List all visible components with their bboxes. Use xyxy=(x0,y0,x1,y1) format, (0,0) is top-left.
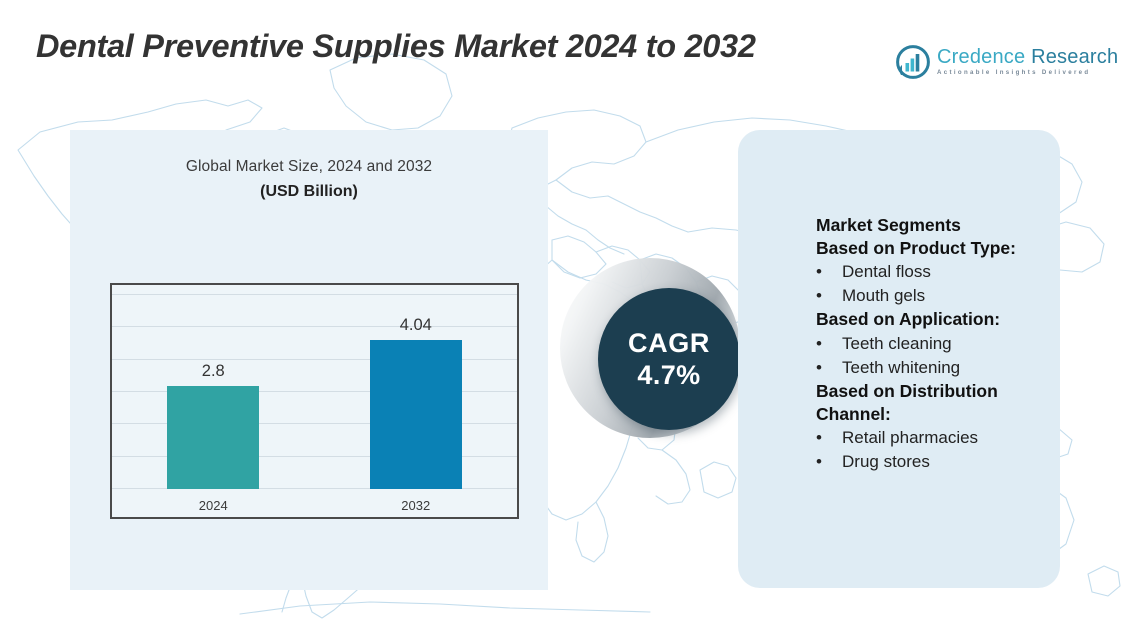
segments-list-item: •Mouth gels xyxy=(816,284,1066,308)
logo-name-part2: Research xyxy=(1031,46,1118,68)
bullet-icon: • xyxy=(816,284,842,308)
chart-plot-area: 2.820244.042032 xyxy=(110,283,519,519)
bullet-icon: • xyxy=(816,260,842,284)
segments-list-item: •Retail pharmacies xyxy=(816,426,1066,450)
cagr-value: 4.7% xyxy=(637,361,700,389)
logo-text-block: Credence Research Actionable Insights De… xyxy=(937,47,1118,76)
segments-group-heading: Based on Application: xyxy=(816,308,1066,331)
chart-gridline xyxy=(112,294,517,295)
segments-group-heading: Channel: xyxy=(816,403,1066,426)
bullet-icon: • xyxy=(816,356,842,380)
segments-group-heading: Based on Product Type: xyxy=(816,237,1066,260)
cagr-circle: CAGR 4.7% xyxy=(598,288,740,430)
segments-title: Market Segments xyxy=(816,214,1066,237)
bullet-icon: • xyxy=(816,450,842,474)
bullet-icon: • xyxy=(816,426,842,450)
market-segments-content: Market SegmentsBased on Product Type:•De… xyxy=(816,214,1066,474)
segments-list-item: •Teeth cleaning xyxy=(816,332,1066,356)
market-size-chart-panel: Global Market Size, 2024 and 2032 (USD B… xyxy=(70,130,548,590)
chart-title: Global Market Size, 2024 and 2032 xyxy=(70,158,548,176)
chart-category-label: 2024 xyxy=(163,498,263,513)
chart-subtitle: (USD Billion) xyxy=(70,183,548,201)
segments-list-item-label: Dental floss xyxy=(842,260,931,284)
chart-bar xyxy=(370,340,462,489)
brand-logo: Credence Research Actionable Insights De… xyxy=(896,42,1086,82)
logo-name: Credence Research xyxy=(937,47,1118,67)
credence-logo-icon xyxy=(896,45,930,79)
segments-list-item-label: Retail pharmacies xyxy=(842,426,978,450)
bullet-icon: • xyxy=(816,332,842,356)
chart-bar-value-label: 2.8 xyxy=(163,362,263,381)
segments-list-item-label: Drug stores xyxy=(842,450,930,474)
segments-list-item: •Teeth whitening xyxy=(816,356,1066,380)
segments-list-item-label: Teeth whitening xyxy=(842,356,960,380)
segments-list-item-label: Teeth cleaning xyxy=(842,332,952,356)
segments-group-heading: Based on Distribution xyxy=(816,380,1066,403)
market-segments-panel: Market SegmentsBased on Product Type:•De… xyxy=(738,130,1060,588)
page-title: Dental Preventive Supplies Market 2024 t… xyxy=(36,28,896,65)
segments-list-item: •Dental floss xyxy=(816,260,1066,284)
chart-bar xyxy=(167,386,259,489)
chart-category-label: 2032 xyxy=(366,498,466,513)
logo-tagline: Actionable Insights Delivered xyxy=(937,70,1118,76)
infographic-root: Dental Preventive Supplies Market 2024 t… xyxy=(0,0,1141,626)
chart-bar-value-label: 4.04 xyxy=(366,316,466,335)
segments-list-item-label: Mouth gels xyxy=(842,284,925,308)
segments-list-item: •Drug stores xyxy=(816,450,1066,474)
chart-heading: Global Market Size, 2024 and 2032 (USD B… xyxy=(70,158,548,201)
cagr-label: CAGR xyxy=(628,329,710,357)
logo-name-part1: Credence xyxy=(937,46,1025,68)
